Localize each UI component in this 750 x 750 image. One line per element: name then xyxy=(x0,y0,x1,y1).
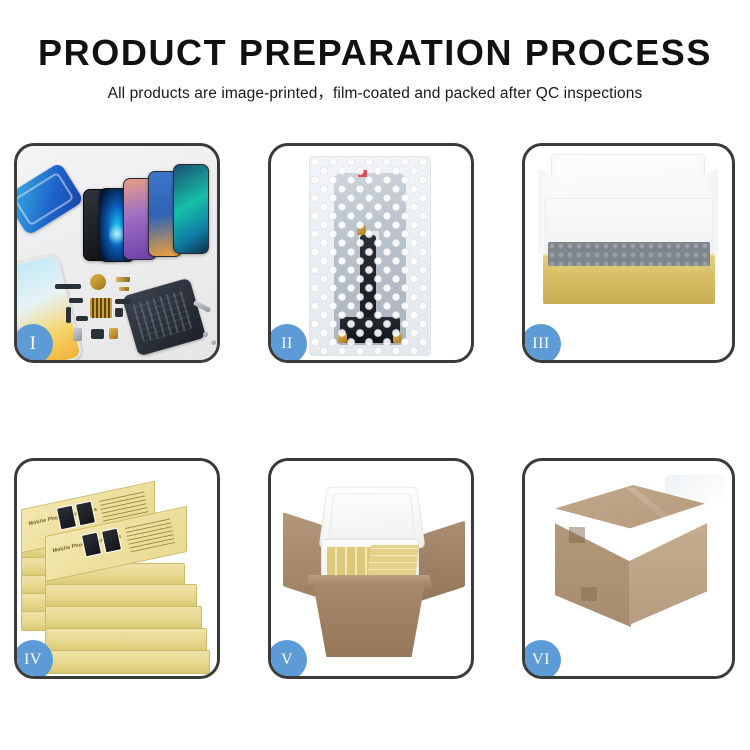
taptic-engine-part xyxy=(91,329,104,339)
step-1-photo xyxy=(17,146,217,360)
stacked-box-front-3 xyxy=(45,606,202,630)
step-badge-2: II xyxy=(268,324,307,363)
carton-tape-patch-bottom xyxy=(581,587,597,601)
process-step-panel-3[interactable]: III xyxy=(522,143,735,363)
step-3-photo xyxy=(525,146,732,360)
step-badge-5: V xyxy=(268,640,307,679)
camera-ring-part xyxy=(90,274,106,290)
stacked-box-front-4 xyxy=(45,584,197,608)
process-step-panel-1[interactable]: I xyxy=(14,143,220,363)
process-step-panel-2[interactable]: II xyxy=(268,143,474,363)
retail-box-stack-image: Mobile Phone Spare Parts Mobile Phone Sp… xyxy=(17,461,217,676)
adhesive-frame-image xyxy=(17,162,84,236)
screw-part-b xyxy=(211,340,216,345)
step-badge-4: IV xyxy=(14,640,53,679)
step-5-photo xyxy=(271,461,471,676)
stacked-box-front-2 xyxy=(45,628,207,652)
parts-layout-scene xyxy=(17,146,217,360)
carton-left-face xyxy=(555,513,631,627)
step-badge-3: III xyxy=(522,324,561,363)
stacked-box-front-1 xyxy=(45,650,210,674)
teal-swirl-phone-image xyxy=(173,164,209,254)
process-step-panel-4[interactable]: Mobile Phone Spare Parts Mobile Phone Sp… xyxy=(14,458,220,679)
bubble-texture xyxy=(310,157,430,355)
carton-right-face xyxy=(629,513,707,625)
step-badge-1: I xyxy=(14,324,53,363)
back-housing-image xyxy=(122,278,206,357)
process-step-panel-6[interactable]: VI xyxy=(522,458,735,679)
carton-tape-patch-top xyxy=(569,527,585,543)
vibrator-motor-part xyxy=(115,308,123,317)
step-6-photo xyxy=(525,461,732,676)
screw-part-a xyxy=(203,332,208,337)
step-4-photo: Mobile Phone Spare Parts Mobile Phone Sp… xyxy=(17,461,217,676)
ribbon-cable-part xyxy=(115,299,131,304)
logic-board-grid-part xyxy=(90,298,112,318)
flex-cable-part xyxy=(116,277,130,282)
small-connector-part xyxy=(69,298,83,303)
yellow-box-tray-image xyxy=(543,256,715,304)
side-button-flex-part xyxy=(119,287,129,291)
home-button-flex-part xyxy=(76,316,88,321)
process-step-grid: I II I xyxy=(0,0,750,750)
process-step-panel-5[interactable]: V xyxy=(268,458,474,679)
antenna-strip-part xyxy=(66,307,71,323)
speaker-mesh-part xyxy=(55,284,81,289)
step-badge-6: VI xyxy=(522,640,561,679)
step-2-photo xyxy=(271,146,471,360)
bubble-wrap-bag-image xyxy=(309,156,431,356)
sim-tray-part xyxy=(73,328,82,341)
gold-bracket-part xyxy=(109,328,118,339)
carton-body xyxy=(313,583,425,657)
